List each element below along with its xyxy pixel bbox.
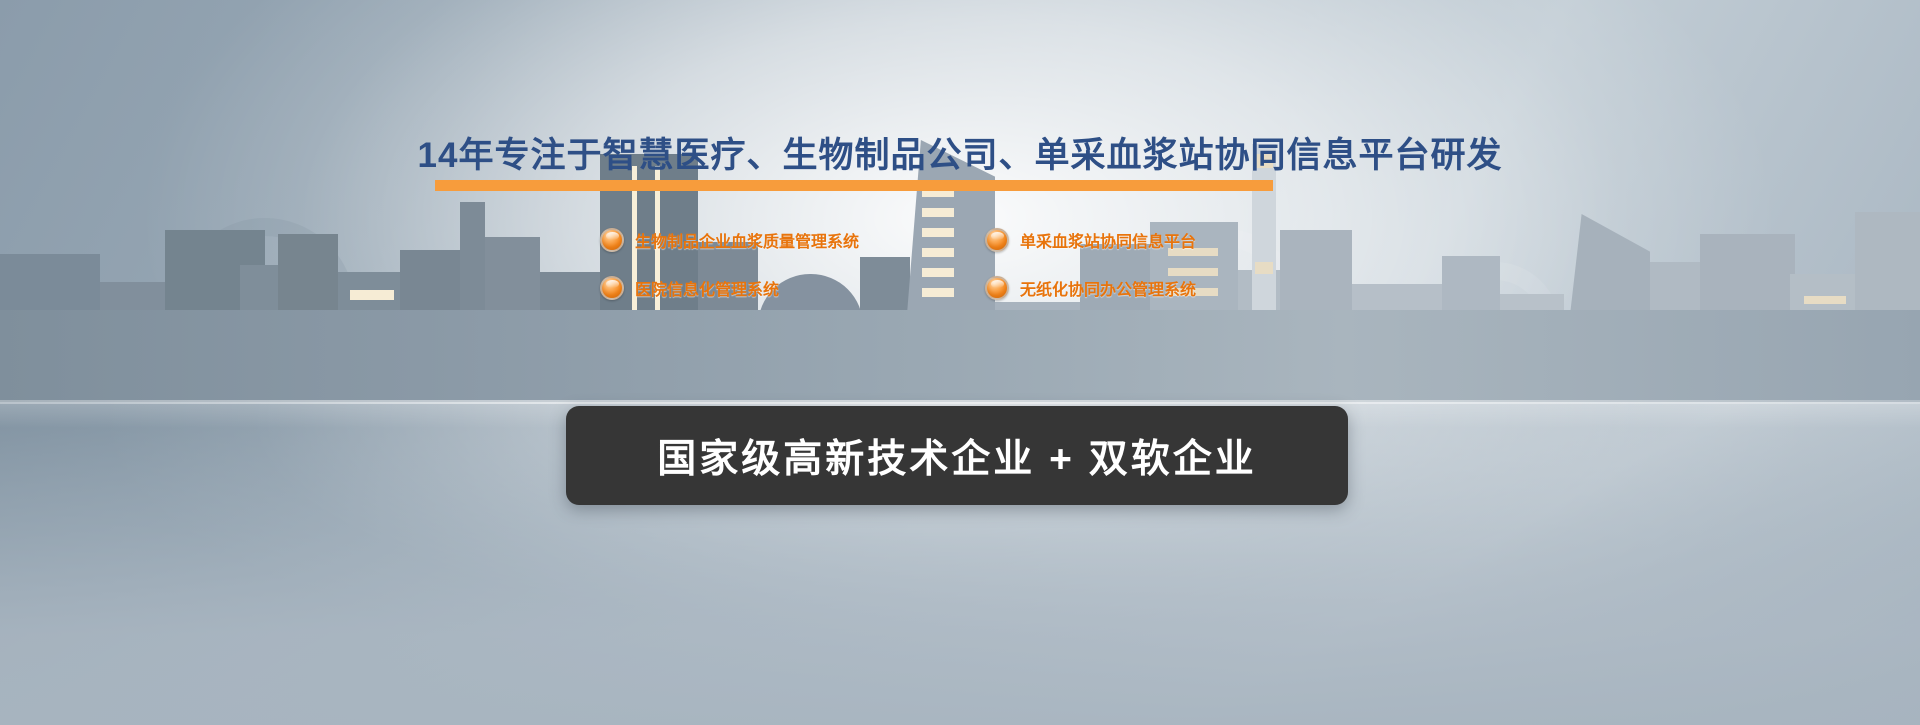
orange-sphere-bullet-icon: [985, 276, 1009, 300]
feature-item[interactable]: 医院信息化管理系统: [600, 276, 985, 300]
feature-item[interactable]: 无纸化协同办公管理系统: [985, 276, 1320, 300]
feature-item[interactable]: 单采血浆站协同信息平台: [985, 228, 1320, 252]
feature-list: 生物制品企业血浆质量管理系统 单采血浆站协同信息平台 医院信息化管理系统 无纸化…: [600, 228, 1320, 300]
feature-label: 无纸化协同办公管理系统: [1020, 276, 1196, 300]
certification-badge: 国家级高新技术企业 + 双软企业: [566, 406, 1348, 505]
banner-headline: 14年专注于智慧医疗、生物制品公司、单采血浆站协同信息平台研发: [0, 127, 1920, 178]
feature-label: 单采血浆站协同信息平台: [1020, 228, 1196, 252]
banner-content: 14年专注于智慧医疗、生物制品公司、单采血浆站协同信息平台研发 生物制品企业血浆…: [0, 0, 1920, 725]
feature-row: 医院信息化管理系统 无纸化协同办公管理系统: [600, 276, 1320, 300]
orange-sphere-bullet-icon: [600, 228, 624, 252]
hero-banner: 14年专注于智慧医疗、生物制品公司、单采血浆站协同信息平台研发 生物制品企业血浆…: [0, 0, 1920, 725]
orange-sphere-bullet-icon: [985, 228, 1009, 252]
feature-item[interactable]: 生物制品企业血浆质量管理系统: [600, 228, 985, 252]
feature-label: 医院信息化管理系统: [635, 276, 779, 300]
orange-sphere-bullet-icon: [600, 276, 624, 300]
feature-row: 生物制品企业血浆质量管理系统 单采血浆站协同信息平台: [600, 228, 1320, 252]
headline-underline: [435, 180, 1273, 191]
feature-label: 生物制品企业血浆质量管理系统: [635, 228, 859, 252]
certification-badge-text: 国家级高新技术企业 + 双软企业: [657, 428, 1256, 484]
